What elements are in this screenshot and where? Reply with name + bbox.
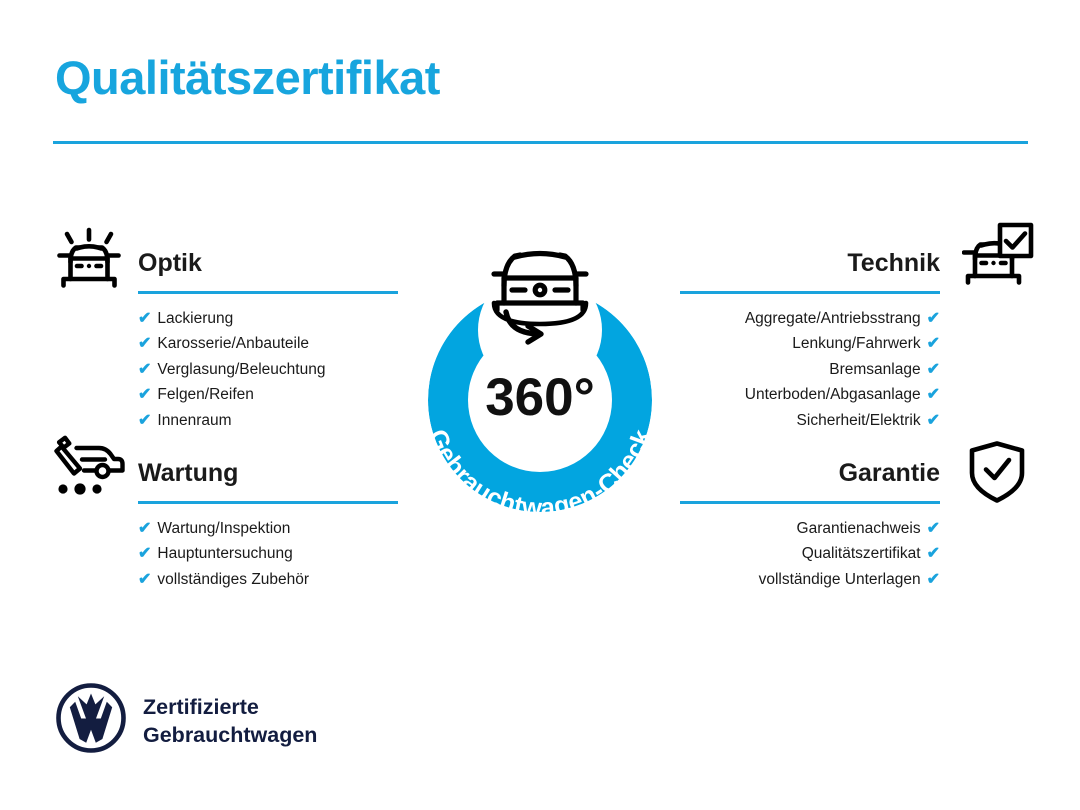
section-header-wartung: Wartung — [138, 458, 398, 504]
list-item: ✔Wartung/Inspektion — [138, 516, 398, 541]
check-icon: ✔ — [138, 382, 151, 407]
list-item: Garantienachweis✔ — [675, 516, 940, 541]
badge-center-label: 360° — [485, 368, 595, 427]
list-item-label: Wartung/Inspektion — [157, 516, 290, 541]
checklist-wartung: ✔Wartung/Inspektion ✔Hauptuntersuchung ✔… — [138, 516, 398, 592]
list-item: ✔vollständiges Zubehör — [138, 567, 398, 592]
section-technik: Technik Aggregate/Antriebsstrang✔ Lenkun… — [675, 248, 940, 433]
list-item: ✔Lackierung — [138, 306, 398, 331]
list-item-label: Verglasung/Beleuchtung — [157, 357, 325, 382]
section-title: Technik — [675, 248, 940, 278]
footer-text: Zertifizierte Gebrauchtwagen — [143, 693, 317, 749]
list-item-label: Aggregate/Antriebsstrang — [745, 306, 921, 331]
footer-line-2: Gebrauchtwagen — [143, 723, 317, 747]
list-item: Qualitätszertifikat✔ — [675, 541, 940, 566]
list-item: ✔Verglasung/Beleuchtung — [138, 357, 398, 382]
section-divider — [680, 291, 940, 294]
list-item: ✔Karosserie/Anbauteile — [138, 331, 398, 356]
check-icon: ✔ — [138, 408, 151, 433]
list-item-label: Felgen/Reifen — [157, 382, 254, 407]
check-icon: ✔ — [927, 567, 940, 592]
section-divider — [680, 501, 940, 504]
badge-360-gebrauchtwagen-check: Gebrauchtwagen-Check 360° — [398, 212, 682, 512]
checklist-garantie: Garantienachweis✔ Qualitätszertifikat✔ v… — [675, 516, 940, 592]
list-item: Aggregate/Antriebsstrang✔ — [675, 306, 940, 331]
section-title: Garantie — [675, 458, 940, 488]
check-icon: ✔ — [927, 408, 940, 433]
checklist-optik: ✔Lackierung ✔Karosserie/Anbauteile ✔Verg… — [138, 306, 398, 433]
vw-logo — [55, 682, 127, 759]
header-divider — [53, 141, 1028, 144]
page-title: Qualitätszertifikat — [55, 52, 440, 104]
check-icon: ✔ — [138, 331, 151, 356]
footer-line-1: Zertifizierte — [143, 695, 259, 719]
list-item-label: Karosserie/Anbauteile — [157, 331, 309, 356]
list-item-label: Sicherheit/Elektrik — [797, 408, 921, 433]
list-item-label: Innenraum — [157, 408, 231, 433]
check-icon: ✔ — [138, 357, 151, 382]
footer-logo-block: Zertifizierte Gebrauchtwagen — [55, 682, 317, 759]
check-icon: ✔ — [927, 382, 940, 407]
list-item-label: Unterboden/Abgasanlage — [745, 382, 921, 407]
section-garantie: Garantie Garantienachweis✔ Qualitätszert… — [675, 458, 940, 592]
list-item: ✔Felgen/Reifen — [138, 382, 398, 407]
shield-check-icon — [966, 440, 1028, 509]
check-icon: ✔ — [927, 541, 940, 566]
certificate-page: Qualitätszertifikat Optik ✔Lackier — [0, 0, 1080, 810]
section-divider — [138, 501, 398, 504]
list-item: vollständige Unterlagen✔ — [675, 567, 940, 592]
section-header-technik: Technik — [675, 248, 940, 294]
check-icon: ✔ — [927, 357, 940, 382]
list-item: Unterboden/Abgasanlage✔ — [675, 382, 940, 407]
car-service-tool-icon — [48, 434, 128, 501]
check-icon: ✔ — [927, 516, 940, 541]
list-item-label: Lenkung/Fahrwerk — [792, 331, 920, 356]
list-item: Sicherheit/Elektrik✔ — [675, 408, 940, 433]
section-header-optik: Optik — [138, 248, 398, 294]
check-icon: ✔ — [138, 306, 151, 331]
section-title: Optik — [138, 248, 398, 278]
list-item-label: Bremsanlage — [829, 357, 920, 382]
list-item-label: Garantienachweis — [797, 516, 921, 541]
list-item-label: Qualitätszertifikat — [802, 541, 921, 566]
check-icon: ✔ — [927, 306, 940, 331]
section-divider — [138, 291, 398, 294]
check-icon: ✔ — [138, 541, 151, 566]
section-header-garantie: Garantie — [675, 458, 940, 504]
list-item-label: vollständiges Zubehör — [157, 567, 309, 592]
check-icon: ✔ — [138, 567, 151, 592]
car-checkbox-icon — [962, 222, 1034, 295]
section-optik: Optik ✔Lackierung ✔Karosserie/Anbauteile… — [138, 248, 398, 433]
checklist-technik: Aggregate/Antriebsstrang✔ Lenkung/Fahrwe… — [675, 306, 940, 433]
list-item-label: Hauptuntersuchung — [157, 541, 292, 566]
car-front-lights-icon — [50, 222, 128, 297]
list-item-label: vollständige Unterlagen — [759, 567, 921, 592]
list-item: ✔Innenraum — [138, 408, 398, 433]
check-icon: ✔ — [138, 516, 151, 541]
list-item: Lenkung/Fahrwerk✔ — [675, 331, 940, 356]
list-item: Bremsanlage✔ — [675, 357, 940, 382]
list-item-label: Lackierung — [157, 306, 233, 331]
list-item: ✔Hauptuntersuchung — [138, 541, 398, 566]
check-icon: ✔ — [927, 331, 940, 356]
section-wartung: Wartung ✔Wartung/Inspektion ✔Hauptunters… — [138, 458, 398, 592]
section-title: Wartung — [138, 458, 398, 488]
